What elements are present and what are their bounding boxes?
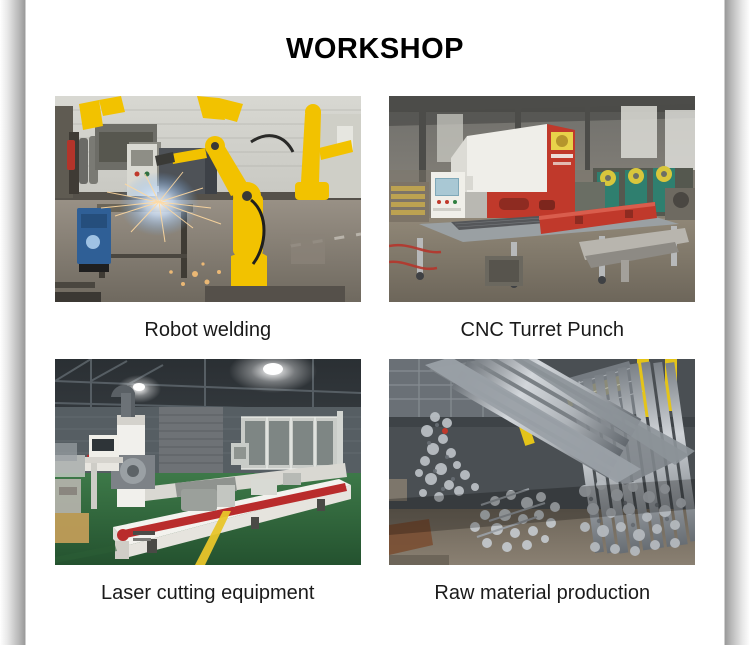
page-left-edge-shadow xyxy=(0,0,26,648)
photo-caption: Robot welding xyxy=(144,302,271,359)
page-title: WORKSHOP xyxy=(26,0,724,66)
photo-caption: Raw material production xyxy=(434,565,650,622)
page-right-edge-shadow xyxy=(724,0,750,648)
gallery-item-robot-welding: Robot welding xyxy=(54,96,362,359)
photo-caption: CNC Turret Punch xyxy=(461,302,624,359)
laser-cutting-equipment-photo[interactable] xyxy=(55,359,361,565)
workshop-gallery: Robot welding xyxy=(26,96,724,622)
raw-material-production-photo[interactable] xyxy=(389,359,695,565)
robot-welding-photo[interactable] xyxy=(55,96,361,302)
gallery-item-raw-material-production: Raw material production xyxy=(389,359,697,622)
cnc-turret-punch-photo[interactable] xyxy=(389,96,695,302)
page-sheet: WORKSHOP xyxy=(26,0,724,645)
page-bottom-edge xyxy=(0,645,750,658)
gallery-item-laser-cutting-equipment: Laser cutting equipment xyxy=(54,359,362,622)
workshop-page: WORKSHOP xyxy=(0,0,750,658)
gallery-item-cnc-turret-punch: CNC Turret Punch xyxy=(389,96,697,359)
photo-caption: Laser cutting equipment xyxy=(101,565,314,622)
